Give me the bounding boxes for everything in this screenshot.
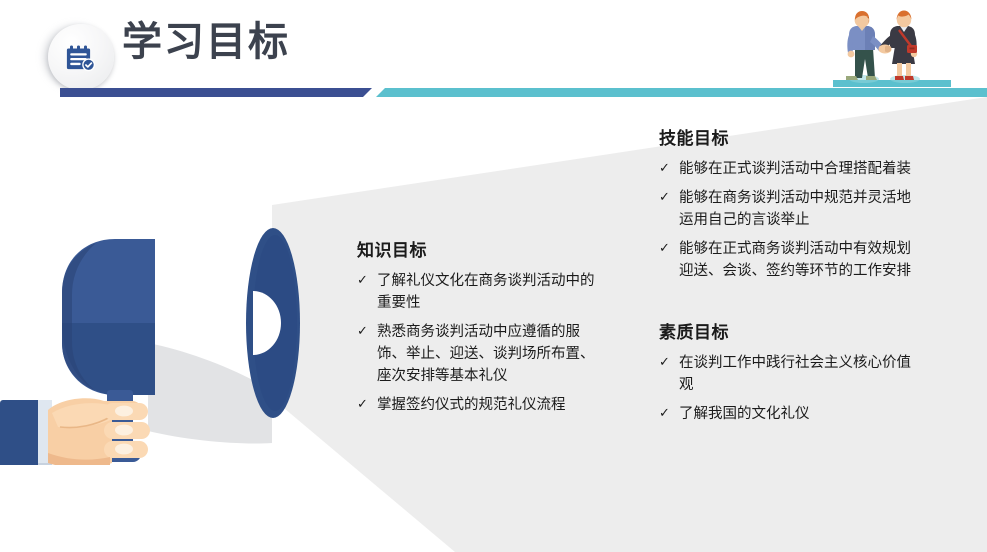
list-item-text: 掌握签约仪式的规范礼仪流程	[377, 394, 605, 416]
list-item-text: 了解我国的文化礼仪	[679, 403, 917, 425]
quality-objectives-heading: 素质目标	[659, 318, 917, 343]
check-icon: ✓	[659, 352, 679, 372]
list-item: ✓ 能够在商务谈判活动中规范并灵活地运用自己的言谈举止	[659, 187, 917, 231]
hand-holding-megaphone-illustration	[0, 195, 310, 465]
badge-circle	[48, 24, 114, 90]
check-icon: ✓	[659, 238, 679, 258]
list-item: ✓ 能够在正式谈判活动中合理搭配着装	[659, 158, 917, 180]
slide-canvas: 学习目标	[0, 0, 987, 552]
knowledge-objectives-block: 知识目标 ✓ 了解礼仪文化在商务谈判活动中的重要性 ✓ 熟悉商务谈判活动中应遵循…	[357, 236, 605, 416]
header-rule-dark	[60, 88, 372, 97]
list-item-text: 能够在商务谈判活动中规范并灵活地运用自己的言谈举止	[679, 187, 917, 231]
list-item-text: 了解礼仪文化在商务谈判活动中的重要性	[377, 270, 605, 314]
check-icon: ✓	[659, 187, 679, 207]
notepad-check-icon	[64, 40, 98, 74]
skill-objectives-list: ✓ 能够在正式谈判活动中合理搭配着装 ✓ 能够在商务谈判活动中规范并灵活地运用自…	[659, 158, 917, 282]
skill-objectives-heading: 技能目标	[659, 124, 917, 149]
knowledge-objectives-heading: 知识目标	[357, 236, 605, 261]
quality-objectives-block: 素质目标 ✓ 在谈判工作中践行社会主义核心价值观 ✓ 了解我国的文化礼仪	[659, 318, 917, 425]
list-item-text: 能够在正式谈判活动中合理搭配着装	[679, 158, 917, 180]
list-item: ✓ 在谈判工作中践行社会主义核心价值观	[659, 352, 917, 396]
skill-objectives-block: 技能目标 ✓ 能够在正式谈判活动中合理搭配着装 ✓ 能够在商务谈判活动中规范并灵…	[659, 124, 917, 282]
list-item: ✓ 了解礼仪文化在商务谈判活动中的重要性	[357, 270, 605, 314]
quality-objectives-list: ✓ 在谈判工作中践行社会主义核心价值观 ✓ 了解我国的文化礼仪	[659, 352, 917, 425]
list-item: ✓ 能够在正式商务谈判活动中有效规划迎送、会谈、签约等环节的工作安排	[659, 238, 917, 282]
check-icon: ✓	[357, 270, 377, 290]
list-item-text: 能够在正式商务谈判活动中有效规划迎送、会谈、签约等环节的工作安排	[679, 238, 917, 282]
list-item: ✓ 熟悉商务谈判活动中应遵循的服饰、举止、迎送、谈判场所布置、座次安排等基本礼仪	[357, 321, 605, 387]
title-badge	[40, 20, 114, 94]
list-item-text: 熟悉商务谈判活动中应遵循的服饰、举止、迎送、谈判场所布置、座次安排等基本礼仪	[377, 321, 605, 387]
page-title: 学习目标	[122, 22, 290, 62]
check-icon: ✓	[659, 158, 679, 178]
check-icon: ✓	[659, 403, 679, 423]
check-icon: ✓	[357, 321, 377, 341]
list-item: ✓ 了解我国的文化礼仪	[659, 403, 917, 425]
list-item: ✓ 掌握签约仪式的规范礼仪流程	[357, 394, 605, 416]
list-item-text: 在谈判工作中践行社会主义核心价值观	[679, 352, 917, 396]
business-handshake-illustration	[833, 8, 951, 90]
check-icon: ✓	[357, 394, 377, 414]
knowledge-objectives-list: ✓ 了解礼仪文化在商务谈判活动中的重要性 ✓ 熟悉商务谈判活动中应遵循的服饰、举…	[357, 270, 605, 416]
